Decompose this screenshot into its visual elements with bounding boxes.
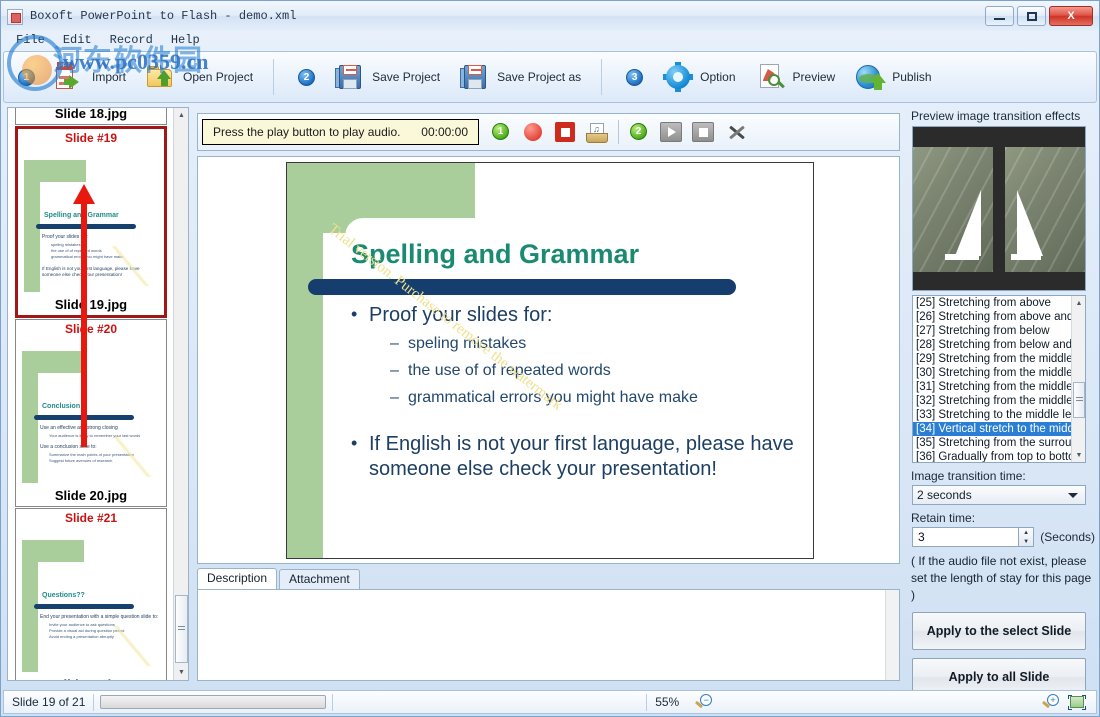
preview-left-half	[913, 147, 993, 272]
transition-time-value: 2 seconds	[917, 488, 1068, 502]
thumbnail-watermark	[102, 246, 162, 286]
thumbnail-slide-title: Spelling and Grammar	[44, 212, 119, 219]
open-project-button[interactable]: Open Project	[136, 57, 263, 97]
option-button[interactable]: Option	[653, 57, 745, 97]
apply-to-select-slide-button[interactable]: Apply to the select Slide	[912, 612, 1086, 650]
stepper-up-icon[interactable]: ▲	[1019, 528, 1033, 537]
audio-step-1-label: 1	[492, 123, 509, 140]
tab-description[interactable]: Description	[197, 568, 277, 589]
transition-time-select[interactable]: 2 seconds	[912, 485, 1086, 505]
description-panel: Description Attachment	[197, 570, 900, 681]
slide-body: Proof your slides for: speling mistakes …	[347, 303, 797, 487]
audio-step-2-label: 2	[630, 123, 647, 140]
application-window: Boxoft PowerPoint to Flash - demo.xml X …	[0, 0, 1100, 717]
thumbnail-rule	[34, 604, 134, 609]
slide-counter-cell: Slide 19 of 21	[4, 691, 93, 713]
menu-item-record[interactable]: Record	[101, 33, 162, 47]
tab-attachment[interactable]: Attachment	[279, 569, 360, 589]
thumbnail-slide-18[interactable]: Slide 18.jpg	[15, 108, 167, 125]
import-button[interactable]: PPT Import	[45, 57, 136, 97]
title-bar: Boxoft PowerPoint to Flash - demo.xml X	[1, 1, 1099, 31]
stop-square-gray-icon	[692, 122, 714, 142]
audio-toolbar-separator	[618, 120, 619, 144]
toolbar-group-1: 1 PPT Import Open Project	[4, 55, 263, 99]
retain-time-label: Retain time:	[911, 511, 1095, 525]
effect-item-31[interactable]: [31] Stretching from the middle le	[913, 380, 1073, 394]
stepper-down-icon[interactable]: ▼	[1019, 537, 1033, 546]
thumbnail-caption-top: Slide #19	[18, 129, 164, 146]
step-badge-3: 3	[626, 69, 643, 86]
effect-item-34[interactable]: [34] Vertical stretch to the middle	[913, 422, 1073, 436]
audio-status-box: Press the play button to play audio. 00:…	[202, 119, 479, 145]
thumbnail-rule	[34, 415, 134, 420]
transition-effects-list[interactable]: [25] Stretching from above [26] Stretchi…	[912, 295, 1086, 463]
scroll-down-arrow-icon[interactable]: ▼	[174, 665, 189, 680]
effect-item-29[interactable]: [29] Stretching from the middle v	[913, 352, 1073, 366]
transition-preview-box	[912, 126, 1086, 291]
zoom-level-cell: 55%	[647, 691, 687, 713]
fit-to-screen-icon[interactable]	[1068, 695, 1086, 710]
apply-to-select-slide-label: Apply to the select Slide	[927, 624, 1071, 638]
maximize-button[interactable]	[1017, 6, 1046, 26]
transition-settings-panel: Preview image transition effects [25] St…	[907, 107, 1095, 681]
retain-time-input[interactable]: 3	[912, 527, 1019, 547]
slide-title: Spelling and Grammar	[351, 239, 639, 270]
slide-bullet-level2: the use of of repeated words	[390, 360, 797, 382]
thumbnail-preview: Questions?? End your presentation with a…	[16, 526, 166, 676]
thumbnail-scrollbar[interactable]: ▲ ▼	[173, 108, 188, 680]
audio-step-badge-2: 2	[627, 120, 651, 144]
scissors-icon[interactable]	[725, 120, 749, 144]
slide-thumbnail-panel: Slide 18.jpg Slide #19 Spelling and Gram…	[7, 107, 189, 681]
slide-counter: Slide 19 of 21	[12, 695, 85, 709]
toolbar-separator-2	[601, 59, 602, 95]
thumbnail-caption-top: Slide #20	[16, 320, 166, 337]
effects-scroll-up-icon[interactable]: ▲	[1072, 296, 1086, 310]
thumbnail-slide-title: Questions??	[42, 592, 85, 599]
effects-list-scrollbar[interactable]: ▲ ▼	[1071, 296, 1085, 462]
stop-record-button[interactable]	[553, 120, 577, 144]
preview-letter-foot-right	[1011, 254, 1041, 260]
publish-button[interactable]: Publish	[845, 57, 941, 97]
zoom-level: 55%	[655, 695, 679, 709]
menu-item-file[interactable]: File	[7, 33, 54, 47]
effect-item-28[interactable]: [28] Stretching from below and g	[913, 338, 1073, 352]
progress-bar	[100, 695, 326, 709]
thumbnail-watermark	[104, 437, 164, 477]
preview-right-half	[1005, 147, 1085, 272]
effect-item-27[interactable]: [27] Stretching from below	[913, 324, 1073, 338]
thumbnail-caption-bottom: Slide 20.jpg	[16, 487, 166, 506]
toolbar-group-2: 2 Save Project Save Project as	[284, 55, 591, 99]
effects-scrollbar-thumb[interactable]	[1073, 382, 1085, 418]
audio-step-badge-1: 1	[489, 120, 513, 144]
thumbnail-watermark	[104, 626, 164, 666]
slide-title-rule	[308, 279, 736, 295]
step-badge-1: 1	[18, 69, 35, 86]
import-ppt-icon: PPT	[55, 62, 85, 92]
menu-bar: File Edit Record Help	[1, 31, 1099, 49]
option-button-label: Option	[700, 70, 735, 84]
thumbnail-caption-bottom: Slide 18.jpg	[16, 108, 166, 124]
thumbnail-slide-21[interactable]: Slide #21 Questions?? End your presentat…	[15, 508, 167, 680]
zoom-in-icon[interactable]: +	[1042, 694, 1060, 710]
slide-bullet-level1: Proof your slides for:	[347, 303, 797, 328]
window-title: Boxoft PowerPoint to Flash - demo.xml	[30, 9, 296, 23]
import-audio-icon: ♫	[586, 123, 608, 143]
effect-item-35[interactable]: [35] Stretching from the surroun	[913, 436, 1073, 450]
effect-item-26[interactable]: [26] Stretching from above and g	[913, 310, 1073, 324]
save-project-button-label: Save Project	[372, 70, 440, 84]
description-tabs: Description Attachment	[197, 570, 900, 589]
zoom-out-icon[interactable]: −	[695, 694, 713, 710]
apply-to-all-slide-label: Apply to all Slide	[949, 670, 1050, 684]
retain-time-suffix: (Seconds)	[1040, 530, 1095, 544]
scroll-up-arrow-icon[interactable]: ▲	[174, 108, 189, 123]
thumbnail-rule	[36, 224, 136, 229]
window-controls: X	[985, 6, 1093, 26]
play-button[interactable]	[659, 120, 683, 144]
slide-bullet-level2: grammatical errors you might have make	[390, 387, 797, 409]
preview-button-label: Preview	[793, 70, 836, 84]
thumbnail-slide-19[interactable]: Slide #19 Spelling and Grammar Proof you…	[15, 126, 167, 318]
effect-item-33[interactable]: [33] Stretching to the middle leve	[913, 408, 1073, 422]
floppy-disk-copy-icon	[460, 62, 490, 92]
transition-time-label: Image transition time:	[911, 469, 1095, 483]
save-project-button[interactable]: Save Project	[325, 57, 450, 97]
retain-time-note-line2: set the length of stay for this page )	[911, 570, 1095, 604]
status-separator-1	[93, 694, 94, 711]
toolbar-separator-1	[273, 59, 274, 95]
status-bar: Slide 19 of 21 55% − +	[3, 690, 1097, 714]
minimize-button[interactable]	[985, 6, 1014, 26]
preview-letter-a-left	[955, 190, 981, 256]
chevron-down-icon	[1068, 493, 1078, 498]
close-button[interactable]: X	[1049, 6, 1093, 26]
audio-status-text: Press the play button to play audio.	[213, 125, 400, 139]
stop-play-button[interactable]	[691, 120, 715, 144]
effect-item-25[interactable]: [25] Stretching from above	[913, 296, 1073, 310]
thumbnail-scroll-area: Slide 18.jpg Slide #19 Spelling and Gram…	[8, 108, 174, 680]
open-project-button-label: Open Project	[183, 70, 253, 84]
thumbnail-slide-title: Conclusion	[42, 403, 80, 410]
globe-upload-icon	[855, 62, 885, 92]
thumbnail-bullet: Use an effective and strong closing	[40, 425, 160, 431]
gear-icon	[663, 62, 693, 92]
import-button-label: Import	[92, 70, 126, 84]
preview-letter-a-right	[1017, 190, 1043, 256]
floppy-disk-icon	[335, 62, 365, 92]
preview-button[interactable]: Preview	[746, 57, 846, 97]
retain-time-note-line1: ( If the audio file not exist, please	[911, 553, 1095, 570]
effect-item-30[interactable]: [30] Stretching from the middle v	[913, 366, 1073, 380]
description-scrollbar[interactable]	[885, 590, 899, 680]
save-project-as-button[interactable]: Save Project as	[450, 57, 591, 97]
record-dot-icon	[524, 123, 542, 141]
slide-band-horizontal	[22, 540, 84, 562]
slide-bullet-level2: speling mistakes	[390, 333, 797, 355]
thumbnail-caption-bottom: Slide 19.jpg	[18, 296, 164, 315]
menu-item-edit[interactable]: Edit	[54, 33, 101, 47]
current-slide: Spelling and Grammar Proof your slides f…	[286, 162, 814, 559]
publish-button-label: Publish	[892, 70, 931, 84]
scrollbar-thumb[interactable]	[175, 595, 188, 663]
effect-item-36[interactable]: [36] Gradually from top to bottor	[913, 450, 1073, 463]
effects-scroll-down-icon[interactable]: ▼	[1072, 448, 1086, 462]
audio-time: 00:00:00	[421, 125, 468, 139]
thumbnail-caption-top: Slide #21	[16, 509, 166, 526]
import-audio-button[interactable]: ♫	[585, 120, 609, 144]
step-badge-2: 2	[298, 69, 315, 86]
slide-bullet-level1: If English is not your first language, p…	[347, 432, 797, 482]
slide-preview-stage: Spelling and Grammar Proof your slides f…	[197, 156, 900, 564]
transition-effects-items: [25] Stretching from above [26] Stretchi…	[913, 296, 1073, 463]
record-button[interactable]	[521, 120, 545, 144]
thumbnail-preview: Conclusion Use an effective and strong c…	[16, 337, 166, 487]
thumbnail-preview: Spelling and Grammar Proof your slides f…	[18, 146, 164, 296]
slide-band-horizontal	[24, 160, 86, 182]
app-icon	[7, 9, 23, 25]
description-textarea[interactable]	[197, 589, 900, 681]
thumbnail-bullet: End your presentation with a simple ques…	[40, 614, 160, 620]
status-separator-2	[332, 694, 333, 711]
save-project-as-button-label: Save Project as	[497, 70, 581, 84]
retain-time-row: 3 ▲ ▼ (Seconds)	[912, 527, 1095, 547]
retain-time-stepper[interactable]: ▲ ▼	[1019, 527, 1034, 547]
play-triangle-icon	[660, 122, 682, 142]
audio-toolbar: Press the play button to play audio. 00:…	[197, 113, 900, 151]
effect-item-32[interactable]: [32] Stretching from the middle le	[913, 394, 1073, 408]
preview-letter-foot-left	[945, 254, 979, 260]
open-folder-icon	[146, 62, 176, 92]
thumbnail-caption-bottom: Slide 21.jpg	[16, 676, 166, 680]
toolbar-group-3: 3 Option Preview Publish	[612, 55, 941, 99]
stop-square-red-icon	[555, 122, 575, 142]
thumbnail-slide-20[interactable]: Slide #20 Conclusion Use an effective an…	[15, 319, 167, 507]
menu-item-help[interactable]: Help	[162, 33, 209, 47]
preview-magnifier-icon	[756, 62, 786, 92]
slide-band-horizontal	[22, 351, 84, 373]
main-toolbar: 1 PPT Import Open Project 2 Save	[3, 51, 1097, 103]
preview-panel-label: Preview image transition effects	[911, 109, 1095, 123]
thumbnail-bullet: Proof your slides for:	[42, 234, 158, 240]
